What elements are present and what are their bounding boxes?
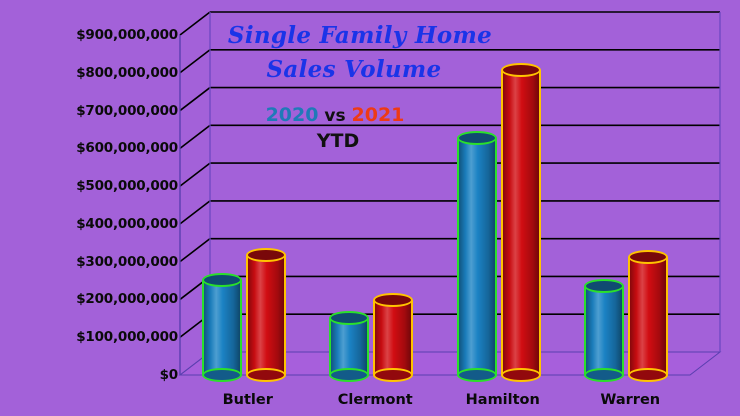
- cylinder-body: [628, 257, 668, 375]
- x-tick-label-butler: Butler: [223, 392, 273, 408]
- y-tick-label: $200,000,000: [30, 291, 178, 307]
- bar-2020-butler: [202, 273, 242, 375]
- gridline-depth: [180, 12, 210, 35]
- legend-period-label: YTD: [317, 130, 360, 152]
- cylinder-body: [501, 70, 541, 375]
- cylinder-base-ellipse: [246, 368, 286, 382]
- gridline-depth: [180, 50, 210, 73]
- gridline-depth: [180, 201, 210, 224]
- chart-title-line-1: Single Family Home: [228, 22, 492, 49]
- cylinder-body: [373, 300, 413, 375]
- cylinder-top-ellipse: [584, 279, 624, 293]
- y-tick-label: $100,000,000: [30, 329, 178, 345]
- legend-separator: vs: [318, 106, 351, 126]
- cylinder-body: [329, 318, 369, 375]
- gridline-depth: [180, 239, 210, 262]
- x-tick-label-hamilton: Hamilton: [466, 392, 540, 408]
- cylinder-body: [457, 138, 497, 375]
- cylinder-base-ellipse: [584, 368, 624, 382]
- y-tick-label: $300,000,000: [30, 254, 178, 270]
- gridline-depth: [180, 163, 210, 186]
- y-tick-label: $500,000,000: [30, 178, 178, 194]
- bar-2021-hamilton: [501, 63, 541, 375]
- y-tick-label: $600,000,000: [30, 140, 178, 156]
- bar-2020-clermont: [329, 311, 369, 375]
- bar-2021-butler: [246, 248, 286, 375]
- cylinder-body: [246, 255, 286, 375]
- cylinder-body: [202, 280, 242, 375]
- legend-label-2021: 2021: [352, 104, 405, 126]
- y-tick-label: $800,000,000: [30, 65, 178, 81]
- gridline-depth: [180, 88, 210, 111]
- y-tick-label: $400,000,000: [30, 216, 178, 232]
- chart-title-line-2: Sales Volume: [267, 56, 442, 83]
- y-tick-label: $0: [30, 367, 178, 383]
- cylinder-body: [584, 286, 624, 375]
- cylinder-top-ellipse: [202, 273, 242, 287]
- x-tick-label-clermont: Clermont: [338, 392, 413, 408]
- cylinder-top-ellipse: [373, 293, 413, 307]
- y-tick-label: $700,000,000: [30, 103, 178, 119]
- cylinder-base-ellipse: [373, 368, 413, 382]
- cylinder-base-ellipse: [501, 368, 541, 382]
- gridline-depth: [180, 125, 210, 148]
- bar-2020-warren: [584, 279, 624, 375]
- bar-2021-warren: [628, 250, 668, 375]
- y-tick-label: $900,000,000: [30, 27, 178, 43]
- cylinder-top-ellipse: [329, 311, 369, 325]
- cylinder-base-ellipse: [457, 368, 497, 382]
- cylinder-base-ellipse: [329, 368, 369, 382]
- cylinder-base-ellipse: [628, 368, 668, 382]
- bar-2021-clermont: [373, 293, 413, 375]
- cylinder-base-ellipse: [202, 368, 242, 382]
- legend-label-2020: 2020: [266, 104, 319, 126]
- chart-legend: 2020 vs 2021: [266, 104, 405, 126]
- chart-canvas: $900,000,000$800,000,000$700,000,000$600…: [0, 0, 740, 416]
- bar-2020-hamilton: [457, 131, 497, 375]
- y-axis-tick-labels: $900,000,000$800,000,000$700,000,000$600…: [0, 0, 178, 416]
- x-tick-label-warren: Warren: [600, 392, 660, 408]
